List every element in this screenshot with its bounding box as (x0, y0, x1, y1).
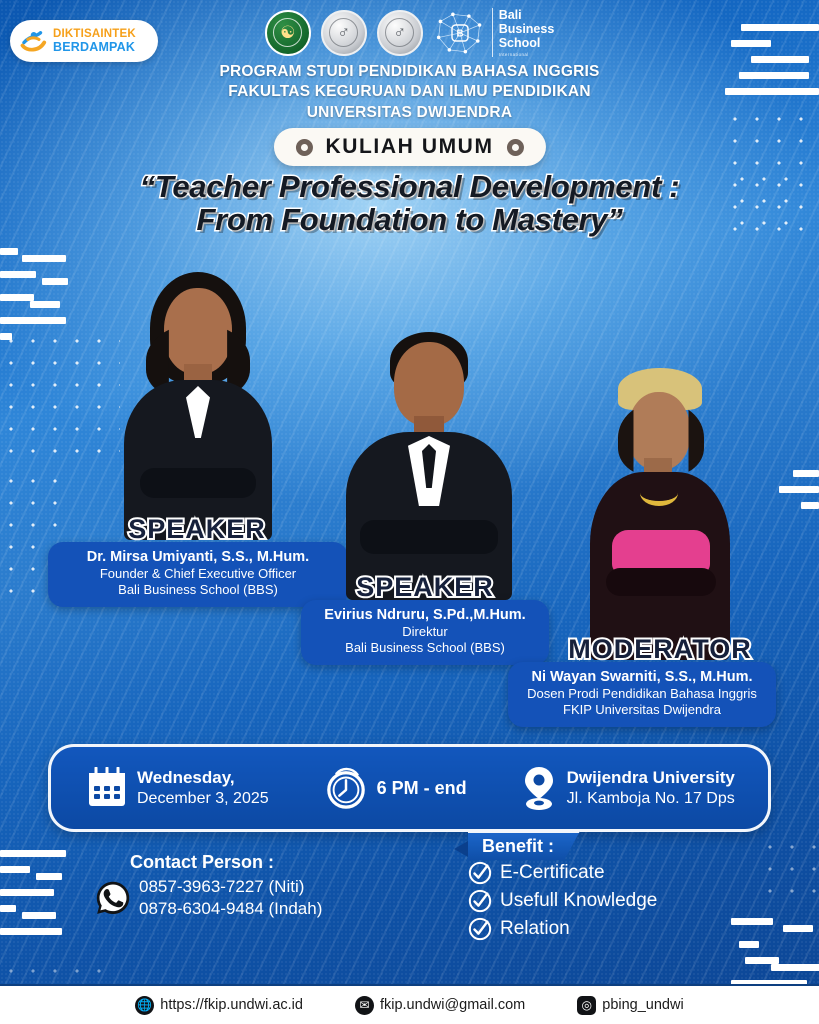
speaker-2-role: SPEAKER (300, 572, 550, 603)
title-line-1: “Teacher Professional Development : (0, 170, 819, 203)
university-seal-icon-2: ♂ (377, 10, 423, 56)
bbs-line-3: School (499, 36, 555, 50)
bali-business-school-logo: B Bali Business School International (433, 8, 555, 57)
speaker-1-role: SPEAKER (52, 514, 342, 545)
venue-line-2: Jl. Kamboja No. 17 Dps (567, 789, 735, 808)
moderator-arms (606, 568, 716, 596)
moderator-role-line-2: FKIP Universitas Dwijendra (524, 702, 760, 718)
bbs-line-1: Bali (499, 8, 555, 22)
date-line-1: Wednesday, (137, 768, 269, 788)
moderator-photo (560, 368, 760, 660)
contact-phone-2: 0878-6304-9484 (Indah) (139, 898, 322, 920)
speaker-1-head (164, 288, 232, 374)
benefit-heading: Benefit : (468, 831, 580, 860)
whatsapp-icon (95, 880, 131, 916)
bbs-wordmark: Bali Business School International (492, 8, 555, 57)
bars-decoration-left-lower (0, 850, 72, 944)
benefit-ribbon: Benefit : (468, 836, 580, 857)
contact-section: Contact Person : 0857-3963-7227 (Niti) 0… (95, 852, 322, 921)
check-circle-icon (468, 889, 492, 913)
institution-logos-row: ☯ ♂ ♂ B Bali Business School (0, 8, 819, 57)
dwijendra-seal-icon: ☯ (265, 10, 311, 56)
program-title: PROGRAM STUDI PENDIDIKAN BAHASA INGGRIS … (0, 62, 819, 123)
benefit-item: Usefull Knowledge (468, 889, 657, 913)
location-pin-icon (521, 765, 557, 811)
speaker-1-name: Dr. Mirsa Umiyanti, S.S., M.Hum. (64, 549, 332, 566)
dot-grid-bottom-right (759, 836, 819, 906)
speaker-2-role-line-2: Bali Business School (BBS) (317, 640, 533, 656)
time-value: 6 PM - end (377, 778, 467, 799)
footer-website[interactable]: 🌐 https://fkip.undwi.ac.id (135, 996, 303, 1015)
event-venue: Dwijendra University Jl. Kamboja No. 17 … (521, 765, 735, 811)
speaker-2-role-line-1: Direktur (317, 624, 533, 640)
event-date: Wednesday, December 3, 2025 (87, 767, 269, 809)
bars-decoration-right-mid (779, 470, 819, 518)
bbs-line-2: Business (499, 22, 555, 36)
footer-email[interactable]: ✉ fkip.undwi@gmail.com (355, 996, 525, 1015)
speaker-2-namecard: Evirius Ndruru, S.Pd.,M.Hum. Direktur Ba… (301, 600, 549, 665)
contact-numbers-row: 0857-3963-7227 (Niti) 0878-6304-9484 (In… (95, 876, 322, 921)
benefit-item-label: Relation (500, 918, 570, 940)
donut-left-icon (295, 139, 312, 156)
speaker-2-head (394, 342, 464, 426)
benefit-item: E-Certificate (468, 861, 657, 885)
contact-phone-1: 0857-3963-7227 (Niti) (139, 876, 322, 898)
speaker-2-arms (360, 520, 498, 554)
program-line-2: FAKULTAS KEGURUAN DAN ILMU PENDIDIKAN (0, 82, 819, 102)
footer-instagram-label: pbing_undwi (602, 997, 683, 1013)
badge-label: KULIAH UMUM (325, 135, 493, 159)
speaker-1-role-line-1: Founder & Chief Executive Officer (64, 566, 332, 582)
moderator-namecard: Ni Wayan Swarniti, S.S., M.Hum. Dosen Pr… (508, 662, 776, 727)
svg-text:B: B (456, 28, 463, 39)
page-title: “Teacher Professional Development : From… (0, 170, 819, 237)
bbs-network-icon: B (433, 9, 487, 57)
envelope-icon: ✉ (355, 996, 374, 1015)
bbs-subtitle: International (499, 52, 555, 57)
ribbon-tail-icon (454, 841, 468, 857)
globe-icon: 🌐 (135, 996, 154, 1015)
title-line-2: From Foundation to Mastery” (0, 203, 819, 236)
moderator-name: Ni Wayan Swarniti, S.S., M.Hum. (524, 669, 760, 686)
poster-canvas: DIKTISAINTEK BERDAMPAK ☯ ♂ ♂ B (0, 0, 819, 1024)
moderator-role-line-1: Dosen Prodi Pendidikan Bahasa Inggris (524, 686, 760, 702)
benefit-item: Relation (468, 917, 657, 941)
footer-email-label: fkip.undwi@gmail.com (380, 997, 525, 1013)
university-seal-icon-1: ♂ (321, 10, 367, 56)
event-info-bar: Wednesday, December 3, 2025 6 PM - end D… (48, 744, 771, 832)
moderator-necklace (640, 480, 678, 506)
date-line-2: December 3, 2025 (137, 789, 269, 808)
speaker-1-role-line-2: Bali Business School (BBS) (64, 582, 332, 598)
program-line-1: PROGRAM STUDI PENDIDIKAN BAHASA INGGRIS (0, 62, 819, 82)
event-time: 6 PM - end (325, 766, 467, 810)
footer-website-label: https://fkip.undwi.ac.id (160, 997, 303, 1013)
footer-bar: 🌐 https://fkip.undwi.ac.id ✉ fkip.undwi@… (0, 984, 819, 1024)
footer-instagram[interactable]: ◎ pbing_undwi (577, 996, 683, 1015)
moderator-role: MODERATOR (520, 634, 800, 665)
benefit-item-label: Usefull Knowledge (500, 890, 657, 912)
bars-decoration-left-upper (0, 248, 70, 349)
speaker-2-name: Evirius Ndruru, S.Pd.,M.Hum. (317, 607, 533, 624)
program-line-3: UNIVERSITAS DWIJENDRA (0, 103, 819, 123)
moderator-role-wrap: MODERATOR (520, 634, 800, 665)
kuliah-umum-badge: KULIAH UMUM (273, 128, 545, 166)
speaker-2-role-wrap: SPEAKER (300, 572, 550, 603)
speaker-1-arms (140, 468, 256, 498)
check-circle-icon (468, 861, 492, 885)
speaker-1-role-wrap: SPEAKER (52, 514, 342, 545)
instagram-icon: ◎ (577, 996, 596, 1015)
check-circle-icon (468, 917, 492, 941)
benefit-section: Benefit : E-Certificate Usefull Knowledg… (468, 836, 657, 941)
speaker-2-photo (318, 332, 538, 600)
contact-heading: Contact Person : (130, 852, 322, 873)
venue-line-1: Dwijendra University (567, 768, 735, 788)
donut-right-icon (507, 139, 524, 156)
contact-phone-list: 0857-3963-7227 (Niti) 0878-6304-9484 (In… (139, 876, 322, 921)
benefit-item-label: E-Certificate (500, 862, 605, 884)
calendar-icon (87, 767, 127, 809)
speaker-1-photo (98, 272, 298, 540)
clock-icon (325, 766, 367, 810)
